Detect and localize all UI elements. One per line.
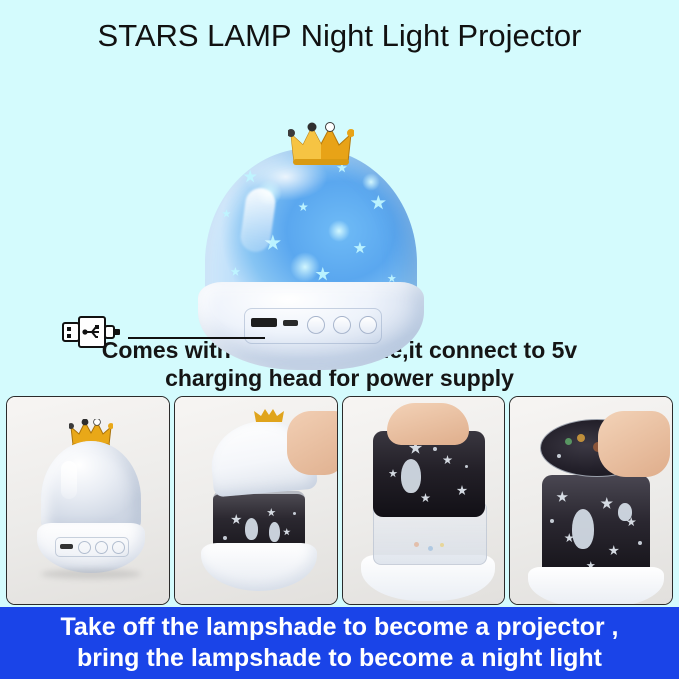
hand	[287, 411, 338, 475]
usb-cable-wire	[128, 337, 265, 339]
hero-product-image	[0, 60, 679, 325]
title-brand: STARS LAMP	[98, 18, 292, 53]
rotate-button[interactable]	[359, 316, 377, 334]
thumbnail-1-assembled-lamp[interactable]	[6, 396, 170, 605]
product-infographic: STARS LAMPNight Light Projector	[0, 0, 679, 679]
hand	[387, 403, 469, 445]
gold-crown-icon	[253, 407, 285, 425]
power-button[interactable]	[78, 541, 91, 554]
thumbnail-row	[6, 396, 673, 603]
rotate-button[interactable]	[112, 541, 125, 554]
gold-crown-icon	[288, 122, 354, 168]
usb-connector-icon	[62, 315, 130, 349]
usb-port-icon	[60, 544, 73, 549]
thumbnail-2-lifting-lampshade[interactable]	[174, 396, 338, 605]
title-descriptor: Night Light Projector	[301, 18, 582, 53]
control-panel	[55, 537, 129, 557]
mode-button[interactable]	[333, 316, 351, 334]
page-title: STARS LAMPNight Light Projector	[0, 18, 679, 54]
hand	[598, 411, 670, 477]
banner-line-1: Take off the lampshade to become a proje…	[61, 612, 619, 643]
power-button[interactable]	[307, 316, 325, 334]
thumbnail-4-film-disc[interactable]	[509, 396, 673, 605]
usb-port-icon	[251, 318, 277, 327]
thumbnail-3-lifting-film-drum[interactable]	[342, 396, 506, 605]
bottom-banner: Take off the lampshade to become a proje…	[0, 607, 679, 679]
banner-line-2: bring the lampshade to become a night li…	[77, 643, 602, 674]
mode-button[interactable]	[95, 541, 108, 554]
projector-film-drum	[542, 475, 650, 579]
micro-usb-port-icon	[283, 320, 298, 326]
lamp-base	[528, 567, 664, 605]
product-shadow	[41, 569, 141, 579]
